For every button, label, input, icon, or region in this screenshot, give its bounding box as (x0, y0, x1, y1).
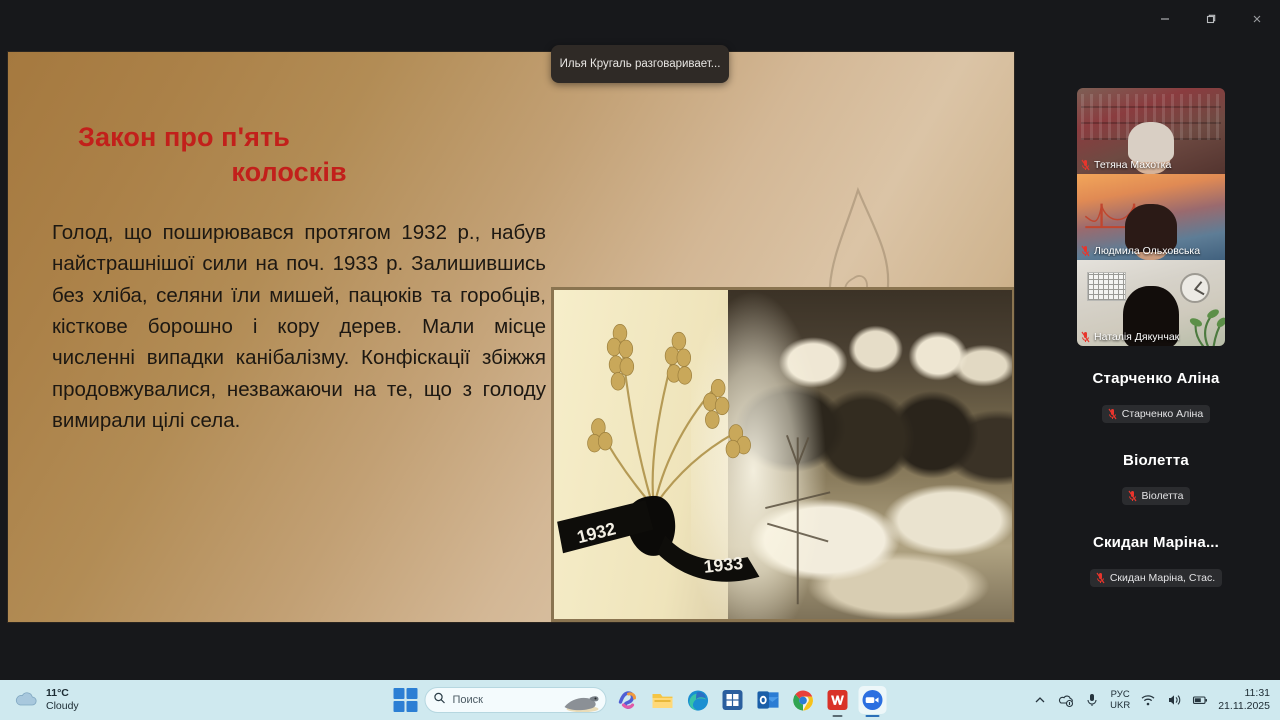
video-tile-name-3: Наталія Дякунчак (1081, 331, 1221, 343)
taskbar-app-microsoft-store[interactable] (719, 686, 747, 714)
seal-image (561, 689, 601, 713)
video-tile-name-2: Людмила Ольховська (1081, 245, 1221, 257)
search-placeholder: Поиск (453, 694, 483, 706)
mic-muted-icon (1081, 159, 1090, 171)
battery-icon[interactable] (1192, 692, 1208, 708)
audio-participant-chip-1: Старченко Аліна (1102, 405, 1210, 423)
zoom-share-window: Закон про п'ять колосків Голод, що пошир… (0, 0, 1280, 720)
taskbar-app-file-explorer[interactable] (649, 686, 677, 714)
wall-clock-icon (1180, 273, 1210, 303)
grid-board-backdrop (1087, 272, 1125, 301)
video-tile-label-1: Тетяна Махотка (1094, 159, 1171, 171)
mic-muted-icon (1081, 245, 1090, 257)
audio-participant-chip-2: Віолетта (1122, 487, 1191, 505)
mic-muted-icon (1081, 331, 1090, 343)
taskbar-center-group: Поиск (394, 686, 887, 714)
weather-temperature: 11°C (46, 687, 69, 699)
video-thumbnail-stack: Тетяна Махотка (1077, 88, 1225, 346)
audio-participant-chip-3: Скидан Маріна, Стас. (1090, 569, 1222, 587)
taskbar-app-outlook[interactable] (754, 686, 782, 714)
taskbar-app-google-chrome[interactable] (789, 686, 817, 714)
start-icon[interactable] (394, 688, 418, 712)
taskbar-app-wps-office[interactable] (824, 686, 852, 714)
audio-participant-name-3: Скидан Маріна... (1040, 534, 1272, 551)
video-tile-1[interactable]: Тетяна Махотка (1077, 88, 1225, 174)
video-tile-label-2: Людмила Ольховська (1094, 245, 1200, 257)
historical-photo: 1932 1933 (551, 287, 1014, 622)
mic-icon[interactable] (1084, 692, 1100, 708)
language-bottom: UKR (1110, 700, 1130, 711)
mic-muted-icon (1128, 490, 1137, 502)
audio-chip-label-3: Скидан Маріна, Стас. (1110, 572, 1215, 584)
language-indicator[interactable]: РУС UKR (1110, 689, 1130, 712)
app-running-indicator (866, 715, 880, 718)
slide-title-line-2: колосків (74, 155, 504, 190)
app-running-indicator (833, 715, 843, 718)
shared-slide: Закон про п'ять колосків Голод, що пошир… (8, 52, 1014, 622)
video-tile-label-3: Наталія Дякунчак (1094, 331, 1179, 343)
restore-button[interactable] (1188, 2, 1234, 36)
window-title-bar (0, 0, 1280, 38)
audio-participant-1[interactable]: Старченко Аліна Старченко Аліна (1040, 370, 1272, 425)
wifi-icon[interactable] (1140, 692, 1156, 708)
video-tile-2[interactable]: Людмила Ольховська (1077, 174, 1225, 260)
cloud-icon (14, 692, 38, 708)
audio-chip-label-2: Віолетта (1142, 490, 1184, 502)
video-tile-3[interactable]: Наталія Дякунчак (1077, 260, 1225, 346)
weather-widget[interactable]: 11°C Cloudy (14, 687, 79, 713)
participant-rail: Тетяна Махотка (1040, 52, 1272, 622)
ribbon-year-right: 1933 (703, 553, 744, 577)
clock-time: 11:31 (1245, 687, 1271, 699)
search-input[interactable]: Поиск (425, 687, 607, 713)
search-icon (434, 691, 446, 709)
taskbar-app-microsoft-edge[interactable] (684, 686, 712, 714)
mic-muted-icon (1096, 572, 1105, 584)
chevron-up-icon[interactable] (1032, 692, 1048, 708)
audio-participant-name-1: Старченко Аліна (1040, 370, 1272, 387)
minimize-button[interactable] (1142, 2, 1188, 36)
close-button[interactable] (1234, 2, 1280, 36)
audio-chip-label-1: Старченко Аліна (1122, 408, 1203, 420)
clock-date: 21.11.2025 (1218, 700, 1270, 712)
mic-muted-icon (1108, 408, 1117, 420)
system-tray: РУС UKR (1032, 687, 1270, 713)
weather-text: 11°C Cloudy (46, 687, 79, 713)
language-top: РУС (1111, 689, 1130, 700)
taskbar-app-copilot[interactable] (614, 686, 642, 714)
wheat-and-ribbon-graphic: 1932 1933 (554, 290, 1012, 619)
volume-icon[interactable] (1166, 692, 1182, 708)
audio-participant-name-2: Віолетта (1040, 452, 1272, 469)
audio-participant-3[interactable]: Скидан Маріна... Скидан Маріна, Стас. (1040, 534, 1272, 589)
slide-body-text: Голод, що поширювався протягом 1932 р., … (52, 217, 546, 437)
active-speaker-label: Илья Кругаль разговаривает... (560, 58, 721, 70)
weather-condition: Cloudy (46, 700, 79, 712)
windows-taskbar: 11°C Cloudy Поиск (0, 680, 1280, 720)
slide-title: Закон про п'ять колосків (74, 120, 504, 189)
audio-participant-2[interactable]: Віолетта Віолетта (1040, 452, 1272, 507)
taskbar-app-zoom[interactable] (859, 686, 887, 714)
slide-title-line-1: Закон про п'ять (74, 120, 504, 155)
active-speaker-toast: Илья Кругаль разговаривает... (551, 45, 729, 83)
onedrive-icon[interactable] (1058, 692, 1074, 708)
video-tile-name-1: Тетяна Махотка (1081, 159, 1221, 171)
clock[interactable]: 11:31 21.11.2025 (1218, 687, 1270, 713)
